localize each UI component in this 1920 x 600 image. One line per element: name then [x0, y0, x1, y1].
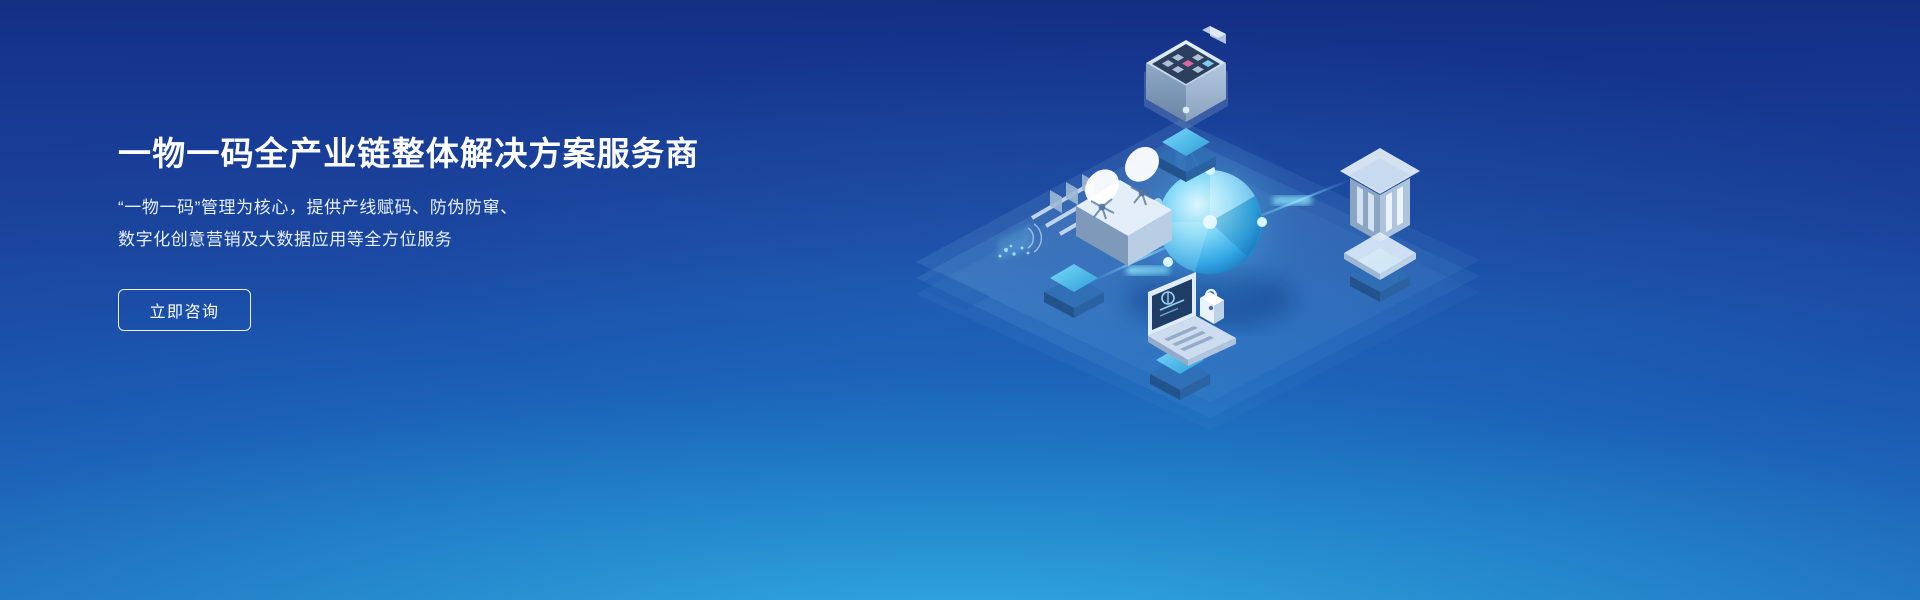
- hero-subtitle: “一物一码”管理为核心，提供产线赋码、防伪防窜、 数字化创意营销及大数据应用等全…: [118, 192, 758, 256]
- hero-banner: 一物一码全产业链整体解决方案服务商 “一物一码”管理为核心，提供产线赋码、防伪防…: [0, 0, 1920, 600]
- bank-structure: [1340, 148, 1420, 280]
- page-title: 一物一码全产业链整体解决方案服务商: [118, 133, 758, 174]
- isometric-iot-platform-illustration: [880, 10, 1500, 430]
- consult-now-button[interactable]: 立即咨询: [118, 289, 251, 331]
- subtitle-line-1: “一物一码”管理为核心，提供产线赋码、防伪防窜、: [118, 192, 758, 224]
- hero-copy: 一物一码全产业链整体解决方案服务商 “一物一码”管理为核心，提供产线赋码、防伪防…: [118, 133, 758, 331]
- subtitle-line-2: 数字化创意营销及大数据应用等全方位服务: [118, 224, 758, 256]
- bank-building: [1340, 148, 1420, 302]
- printer-body: [1144, 26, 1228, 130]
